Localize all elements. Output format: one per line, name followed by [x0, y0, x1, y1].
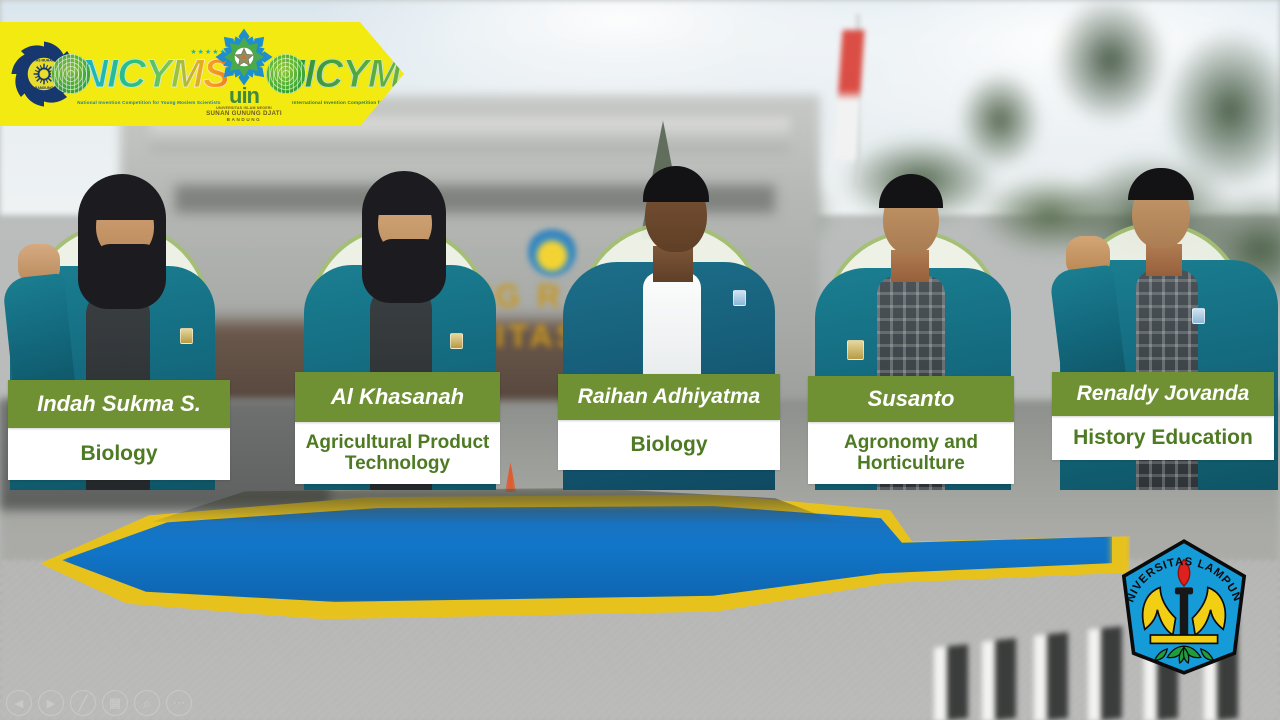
previous-slide-button[interactable]: ◀	[6, 690, 32, 716]
member-major: Agronomy and Horticulture	[808, 422, 1014, 484]
ellipsis-icon: ⋯	[173, 695, 186, 711]
universitas-lampung-logo: UNIVERSITAS LAMPUNG	[1106, 537, 1262, 677]
magnifier-icon: ⌕	[143, 695, 151, 712]
member-major: Biology	[558, 420, 780, 470]
pen-tool-button[interactable]: ╱	[70, 690, 96, 716]
team-member-card-1: Indah Sukma S. Biology	[8, 380, 230, 480]
team-member-card-2: Al Khasanah Agricultural Product Technol…	[295, 372, 500, 484]
presentation-slide: NG R SITAS	[0, 0, 1280, 720]
uin-subtitle-line3: BANDUNG	[227, 117, 262, 122]
member-name: Susanto	[808, 376, 1014, 422]
pen-icon: ╱	[78, 694, 87, 712]
member-name: Al Khasanah	[295, 372, 500, 422]
next-slide-button[interactable]: ▶	[38, 690, 64, 716]
team-member-card-3: Raihan Adhiyatma Biology	[558, 374, 780, 470]
next-slide-icon: ▶	[47, 697, 55, 710]
globe-icon	[51, 54, 91, 94]
more-options-button[interactable]: ⋯	[166, 690, 192, 716]
member-major: Agricultural Product Technology	[295, 422, 500, 484]
team-member-card-5: Renaldy Jovanda History Education	[1052, 372, 1274, 460]
team-member-card-4: Susanto Agronomy and Horticulture	[808, 376, 1014, 484]
member-name: Indah Sukma S.	[8, 380, 230, 428]
grid-icon: ▦	[109, 695, 121, 711]
globe-icon	[266, 54, 306, 94]
event-logo-banner: UNIVERSITAS MUHAMMADIYAH BANDUNG NICYMS …	[0, 22, 404, 126]
zoom-button[interactable]: ⌕	[134, 690, 160, 716]
previous-slide-icon: ◀	[15, 697, 23, 710]
uin-wordmark: uin	[229, 86, 259, 106]
logo-slot-nicyms: NICYMS ★★★★★ National Invention Competit…	[84, 22, 196, 126]
slide-grid-button[interactable]: ▦	[102, 690, 128, 716]
member-major: History Education	[1052, 416, 1274, 460]
member-name: Raihan Adhiyatma	[558, 374, 780, 420]
uin-subtitle-line2: SUNAN GUNUNG DJATI	[206, 110, 282, 117]
member-major: Biology	[8, 428, 230, 480]
presenter-toolbar[interactable]: ◀ ▶ ╱ ▦ ⌕ ⋯	[6, 690, 192, 716]
member-name: Renaldy Jovanda	[1052, 372, 1274, 416]
